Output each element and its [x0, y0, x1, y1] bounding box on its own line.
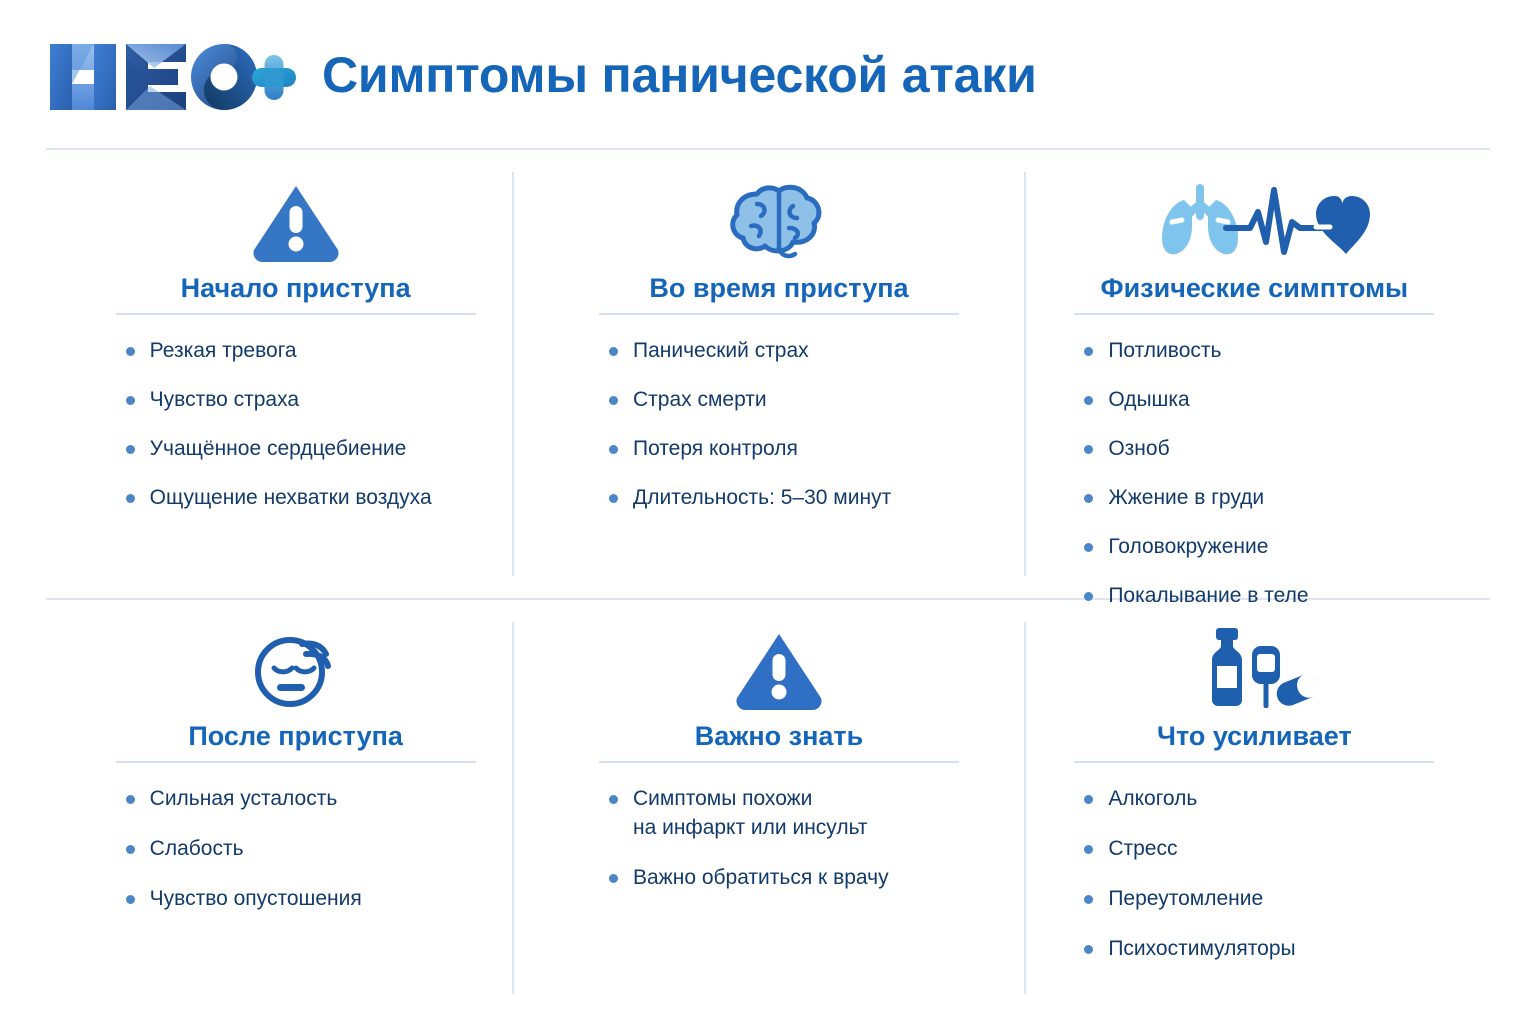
- logo-plus-icon: [252, 55, 296, 100]
- title-underline: [1074, 313, 1434, 315]
- list-item: Панический страх: [605, 337, 959, 366]
- symptom-list: Симптомы похожи на инфаркт или инсульт В…: [599, 785, 959, 893]
- symptom-list: Сильная усталость Слабость Чувство опуст…: [116, 785, 476, 914]
- page-title: Симптомы панической атаки: [322, 50, 1037, 100]
- list-item: Учащённое сердцебиение: [122, 435, 476, 464]
- brain-icon: [599, 176, 959, 262]
- list-item: Потливость: [1080, 337, 1434, 366]
- list-item: Ощущение нехватки воздуха: [122, 484, 476, 513]
- warning-triangle-icon: [116, 176, 476, 262]
- list-item: Резкая тревога: [122, 337, 476, 366]
- symptom-list: Резкая тревога Чувство страха Учащённое …: [116, 337, 476, 513]
- lungs-heartbeat-heart-icon: [1074, 176, 1434, 262]
- list-item: Чувство страха: [122, 386, 476, 415]
- ecg-line-icon: [1226, 190, 1328, 252]
- card-what-aggravates: Что усиливает Алкоголь Стресс Переутомле…: [1009, 598, 1490, 1024]
- list-item: Потеря контроля: [605, 435, 959, 464]
- card-after-attack: После приступа Сильная усталость Слабост…: [46, 598, 527, 1024]
- title-underline: [116, 313, 476, 315]
- list-item: Головокружение: [1080, 533, 1434, 562]
- list-item: Одышка: [1080, 386, 1434, 415]
- bottle-icon: [1212, 628, 1242, 706]
- card-title: После приступа: [116, 722, 476, 761]
- symptom-list: Потливость Одышка Озноб Жжение в груди Г…: [1074, 337, 1434, 611]
- card-physical-symptoms: Физические симптомы Потливость Одышка Оз…: [1009, 150, 1490, 598]
- card-title: Во время приступа: [599, 274, 959, 313]
- logo-letter-h: [50, 44, 116, 110]
- lungs-icon: [1162, 188, 1238, 254]
- warning-triangle-icon: [599, 624, 959, 710]
- header: Симптомы панической атаки: [0, 0, 1536, 150]
- tired-face-icon: [116, 624, 476, 710]
- logo-letter-o: [191, 44, 257, 110]
- list-item: Жжение в груди: [1080, 484, 1434, 513]
- list-item: Алкоголь: [1080, 785, 1434, 814]
- list-item: Озноб: [1080, 435, 1434, 464]
- card-title: Физические симптомы: [1074, 274, 1434, 313]
- list-item: Страх смерти: [605, 386, 959, 415]
- title-underline: [116, 761, 476, 763]
- cards-grid: Начало приступа Резкая тревога Чувство с…: [0, 150, 1536, 1024]
- list-item: Чувство опустошения: [122, 885, 476, 914]
- card-title: Важно знать: [599, 722, 959, 761]
- list-item: Слабость: [122, 835, 476, 864]
- logo-letter-e: [126, 44, 186, 110]
- neo-plus-logo: [46, 38, 296, 116]
- card-title: Начало приступа: [116, 274, 476, 313]
- list-item: Важно обратиться к врачу: [605, 864, 959, 893]
- title-underline: [1074, 761, 1434, 763]
- list-item: Длительность: 5–30 минут: [605, 484, 959, 513]
- card-during-attack: Во время приступа Панический страх Страх…: [527, 150, 1008, 598]
- symptom-list: Панический страх Страх смерти Потеря кон…: [599, 337, 959, 513]
- title-underline: [599, 761, 959, 763]
- list-item: Симптомы похожи на инфаркт или инсульт: [605, 785, 959, 843]
- bottle-pills-icon: [1074, 624, 1434, 710]
- card-important-to-know: Важно знать Симптомы похожи на инфаркт и…: [527, 598, 1008, 1024]
- title-underline: [599, 313, 959, 315]
- list-item: Переутомление: [1080, 885, 1434, 914]
- list-item: Сильная усталость: [122, 785, 476, 814]
- vial-icon: [1252, 646, 1280, 708]
- list-item: Психостимуляторы: [1080, 935, 1434, 964]
- card-title: Что усиливает: [1074, 722, 1434, 761]
- infographic-page: Симптомы панической атаки Начало приступ…: [0, 0, 1536, 1024]
- symptom-list: Алкоголь Стресс Переутомление Психостиму…: [1074, 785, 1434, 964]
- list-item: Стресс: [1080, 835, 1434, 864]
- heart-icon: [1316, 196, 1370, 254]
- card-attack-onset: Начало приступа Резкая тревога Чувство с…: [46, 150, 527, 598]
